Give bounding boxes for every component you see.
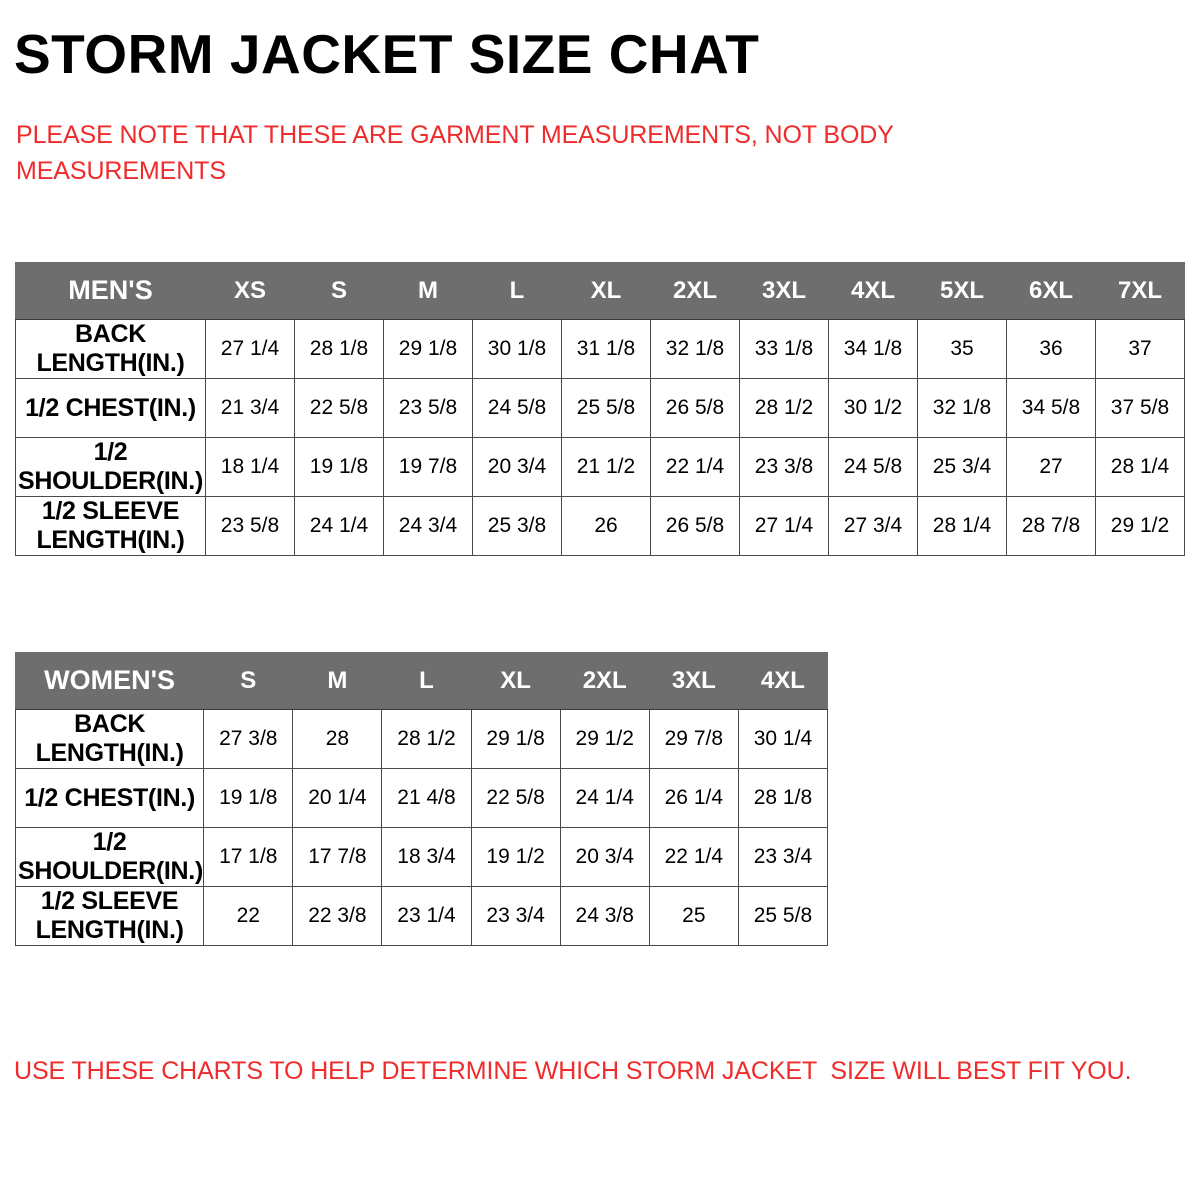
measurement-cell: 33 1/8: [740, 320, 829, 379]
measurement-cell: 28: [293, 710, 382, 769]
measurement-cell: 32 1/8: [651, 320, 740, 379]
column-header-m: M: [293, 653, 382, 710]
measurement-cell: 23 3/4: [738, 828, 827, 887]
table-row: 1/2 CHEST(IN.)19 1/820 1/421 4/822 5/824…: [16, 769, 828, 828]
row-label: 1/2 CHEST(IN.): [16, 379, 206, 438]
measurement-cell: 19 7/8: [384, 438, 473, 497]
measurement-cell: 25 5/8: [738, 887, 827, 946]
measurement-cell: 20 3/4: [560, 828, 649, 887]
measurement-cell: 25 5/8: [562, 379, 651, 438]
column-header-2xl: 2XL: [651, 263, 740, 320]
measurement-cell: 26 5/8: [651, 379, 740, 438]
measurement-cell: 18 1/4: [206, 438, 295, 497]
row-label: 1/2 SLEEVELENGTH(IN.): [16, 887, 204, 946]
column-header-5xl: 5XL: [918, 263, 1007, 320]
measurement-cell: 28 1/4: [918, 497, 1007, 556]
row-label-line1: 1/2 SLEEVE: [18, 887, 201, 916]
measurement-cell: 24 3/8: [560, 887, 649, 946]
womens-table-header: WOMEN'SSMLXL2XL3XL4XL: [16, 653, 828, 710]
measurement-cell: 29 7/8: [649, 710, 738, 769]
measurement-cell: 23 5/8: [206, 497, 295, 556]
row-label-line1: BACK: [18, 710, 201, 739]
column-header-6xl: 6XL: [1007, 263, 1096, 320]
table-row: 1/2 SHOULDER(IN.)17 1/817 7/818 3/419 1/…: [16, 828, 828, 887]
measurement-cell: 22 1/4: [651, 438, 740, 497]
column-header-l: L: [473, 263, 562, 320]
row-label: 1/2 SLEEVELENGTH(IN.): [16, 497, 206, 556]
measurement-cell: 36: [1007, 320, 1096, 379]
column-header-l: L: [382, 653, 471, 710]
measurement-cell: 17 7/8: [293, 828, 382, 887]
measurement-cell: 26: [562, 497, 651, 556]
page-title: STORM JACKET SIZE CHAT: [14, 26, 759, 84]
measurement-cell: 21 1/2: [562, 438, 651, 497]
measurement-cell: 17 1/8: [204, 828, 293, 887]
measurement-cell: 25 3/4: [918, 438, 1007, 497]
measurement-cell: 27 3/8: [204, 710, 293, 769]
measurement-cell: 18 3/4: [382, 828, 471, 887]
column-header-4xl: 4XL: [829, 263, 918, 320]
table-row: 1/2 SHOULDER(IN.)18 1/419 1/819 7/820 3/…: [16, 438, 1185, 497]
measurement-cell: 28 1/8: [295, 320, 384, 379]
measurement-cell: 32 1/8: [918, 379, 1007, 438]
measurement-cell: 24 5/8: [829, 438, 918, 497]
column-header-xs: XS: [206, 263, 295, 320]
measurement-cell: 27 3/4: [829, 497, 918, 556]
row-label: 1/2 SHOULDER(IN.): [16, 438, 206, 497]
measurement-cell: 28 1/8: [738, 769, 827, 828]
measurement-cell: 22: [204, 887, 293, 946]
row-label: 1/2 SHOULDER(IN.): [16, 828, 204, 887]
measurement-cell: 23 1/4: [382, 887, 471, 946]
measurement-cell: 29 1/8: [384, 320, 473, 379]
row-label-line2: LENGTH(IN.): [18, 916, 201, 945]
womens-corner-label: WOMEN'S: [16, 653, 204, 710]
measurement-cell: 28 1/2: [382, 710, 471, 769]
column-header-3xl: 3XL: [740, 263, 829, 320]
measurement-cell: 23 5/8: [384, 379, 473, 438]
measurement-cell: 20 1/4: [293, 769, 382, 828]
measurement-cell: 19 1/2: [471, 828, 560, 887]
row-label: BACKLENGTH(IN.): [16, 710, 204, 769]
measurement-cell: 28 1/2: [740, 379, 829, 438]
column-header-xl: XL: [471, 653, 560, 710]
measurement-cell: 24 3/4: [384, 497, 473, 556]
measurement-cell: 27 1/4: [206, 320, 295, 379]
measurement-cell: 22 1/4: [649, 828, 738, 887]
measurement-cell: 24 1/4: [295, 497, 384, 556]
column-header-s: S: [295, 263, 384, 320]
measurement-cell: 21 3/4: [206, 379, 295, 438]
mens-size-table: MEN'SXSSMLXL2XL3XL4XL5XL6XL7XL BACKLENGT…: [15, 262, 1185, 556]
womens-table-body: BACKLENGTH(IN.)27 3/82828 1/229 1/829 1/…: [16, 710, 828, 946]
measurement-cell: 30 1/8: [473, 320, 562, 379]
measurement-cell: 37: [1096, 320, 1185, 379]
column-header-3xl: 3XL: [649, 653, 738, 710]
garment-measurement-note: PLEASE NOTE THAT THESE ARE GARMENT MEASU…: [16, 118, 976, 189]
measurement-cell: 25 3/8: [473, 497, 562, 556]
mens-corner-label: MEN'S: [16, 263, 206, 320]
measurement-cell: 21 4/8: [382, 769, 471, 828]
help-determine-note: USE THESE CHARTS TO HELP DETERMINE WHICH…: [14, 1057, 1131, 1086]
table-header-row: WOMEN'SSMLXL2XL3XL4XL: [16, 653, 828, 710]
column-header-7xl: 7XL: [1096, 263, 1185, 320]
column-header-s: S: [204, 653, 293, 710]
womens-size-table: WOMEN'SSMLXL2XL3XL4XL BACKLENGTH(IN.)27 …: [15, 652, 828, 946]
column-header-2xl: 2XL: [560, 653, 649, 710]
row-label: 1/2 CHEST(IN.): [16, 769, 204, 828]
measurement-cell: 31 1/8: [562, 320, 651, 379]
measurement-cell: 23 3/4: [471, 887, 560, 946]
row-label-line2: LENGTH(IN.): [18, 526, 203, 555]
measurement-cell: 24 1/4: [560, 769, 649, 828]
measurement-cell: 28 1/4: [1096, 438, 1185, 497]
table-row: 1/2 CHEST(IN.)21 3/422 5/823 5/824 5/825…: [16, 379, 1185, 438]
table-row: BACKLENGTH(IN.)27 1/428 1/829 1/830 1/83…: [16, 320, 1185, 379]
mens-table-body: BACKLENGTH(IN.)27 1/428 1/829 1/830 1/83…: [16, 320, 1185, 556]
measurement-cell: 24 5/8: [473, 379, 562, 438]
measurement-cell: 37 5/8: [1096, 379, 1185, 438]
measurement-cell: 22 5/8: [295, 379, 384, 438]
column-header-4xl: 4XL: [738, 653, 827, 710]
measurement-cell: 34 5/8: [1007, 379, 1096, 438]
measurement-cell: 35: [918, 320, 1007, 379]
mens-table-header: MEN'SXSSMLXL2XL3XL4XL5XL6XL7XL: [16, 263, 1185, 320]
table-row: BACKLENGTH(IN.)27 3/82828 1/229 1/829 1/…: [16, 710, 828, 769]
table-row: 1/2 SLEEVELENGTH(IN.)2222 3/823 1/423 3/…: [16, 887, 828, 946]
measurement-cell: 22 5/8: [471, 769, 560, 828]
measurement-cell: 25: [649, 887, 738, 946]
measurement-cell: 29 1/2: [560, 710, 649, 769]
column-header-m: M: [384, 263, 473, 320]
measurement-cell: 23 3/8: [740, 438, 829, 497]
table-row: 1/2 SLEEVELENGTH(IN.)23 5/824 1/424 3/42…: [16, 497, 1185, 556]
row-label-line1: 1/2 SLEEVE: [18, 497, 203, 526]
measurement-cell: 29 1/2: [1096, 497, 1185, 556]
measurement-cell: 30 1/2: [829, 379, 918, 438]
column-header-xl: XL: [562, 263, 651, 320]
measurement-cell: 19 1/8: [204, 769, 293, 828]
measurement-cell: 27 1/4: [740, 497, 829, 556]
row-label: BACKLENGTH(IN.): [16, 320, 206, 379]
row-label-line2: LENGTH(IN.): [18, 349, 203, 378]
row-label-line2: LENGTH(IN.): [18, 739, 201, 768]
measurement-cell: 19 1/8: [295, 438, 384, 497]
measurement-cell: 26 1/4: [649, 769, 738, 828]
measurement-cell: 30 1/4: [738, 710, 827, 769]
table-header-row: MEN'SXSSMLXL2XL3XL4XL5XL6XL7XL: [16, 263, 1185, 320]
measurement-cell: 34 1/8: [829, 320, 918, 379]
row-label-line1: BACK: [18, 320, 203, 349]
measurement-cell: 27: [1007, 438, 1096, 497]
measurement-cell: 20 3/4: [473, 438, 562, 497]
size-chart-page: STORM JACKET SIZE CHAT PLEASE NOTE THAT …: [0, 0, 1200, 1200]
measurement-cell: 26 5/8: [651, 497, 740, 556]
measurement-cell: 28 7/8: [1007, 497, 1096, 556]
measurement-cell: 22 3/8: [293, 887, 382, 946]
measurement-cell: 29 1/8: [471, 710, 560, 769]
